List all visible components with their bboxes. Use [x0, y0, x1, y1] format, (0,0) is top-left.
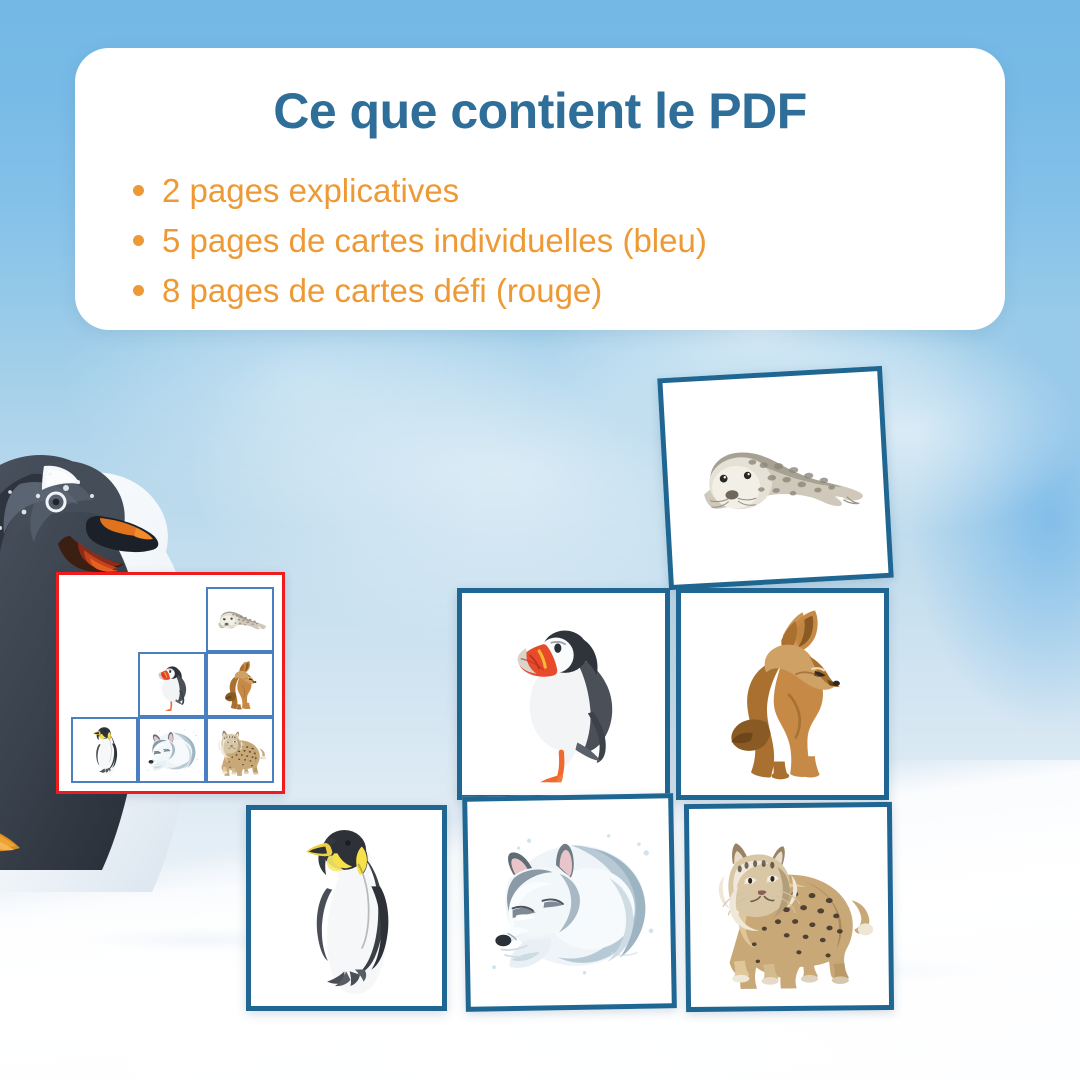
page-title: Ce que contient le PDF: [75, 48, 1005, 140]
challenge-cell-husky: [138, 717, 206, 783]
animal-card-penguin[interactable]: [246, 805, 447, 1011]
penguin-illustration: [282, 817, 412, 999]
fox-illustration: [217, 659, 263, 711]
list-item-label: 2 pages explicatives: [162, 166, 459, 216]
bullet-dot-icon: [133, 185, 144, 196]
puffin-illustration: [150, 659, 194, 711]
lynx-illustration: [212, 725, 268, 776]
info-card: Ce que contient le PDF 2 pages explicati…: [75, 48, 1005, 330]
challenge-card[interactable]: [56, 572, 285, 794]
lynx-illustration: [698, 824, 880, 990]
list-item: 2 pages explicatives: [133, 166, 1005, 216]
challenge-cell-penguin: [71, 717, 138, 783]
challenge-cell-lynx: [206, 717, 274, 783]
pdf-contents-list: 2 pages explicatives 5 pages de cartes i…: [75, 166, 1005, 316]
fox-illustration: [703, 604, 863, 784]
penguin-illustration: [86, 723, 124, 777]
seal-illustration: [680, 420, 871, 535]
list-item-label: 8 pages de cartes défi (rouge): [162, 266, 602, 316]
husky-illustration: [475, 825, 664, 980]
poster-canvas: Ce que contient le PDF 2 pages explicati…: [0, 0, 1080, 1080]
list-item: 8 pages de cartes défi (rouge): [133, 266, 1005, 316]
husky-illustration: [143, 727, 201, 774]
seal-illustration: [212, 604, 268, 636]
bullet-dot-icon: [133, 235, 144, 246]
animal-card-husky[interactable]: [462, 793, 677, 1012]
animal-card-puffin[interactable]: [457, 588, 670, 800]
animal-card-lynx[interactable]: [684, 802, 894, 1012]
puffin-illustration: [489, 605, 639, 783]
list-item-label: 5 pages de cartes individuelles (bleu): [162, 216, 707, 266]
animal-card-seal[interactable]: [657, 366, 893, 590]
challenge-cell-fox: [206, 652, 274, 717]
animal-card-fox[interactable]: [676, 588, 889, 800]
bullet-dot-icon: [133, 285, 144, 296]
list-item: 5 pages de cartes individuelles (bleu): [133, 216, 1005, 266]
challenge-cell-puffin: [138, 652, 206, 717]
challenge-grid: [71, 587, 274, 783]
challenge-cell-seal: [206, 587, 274, 652]
